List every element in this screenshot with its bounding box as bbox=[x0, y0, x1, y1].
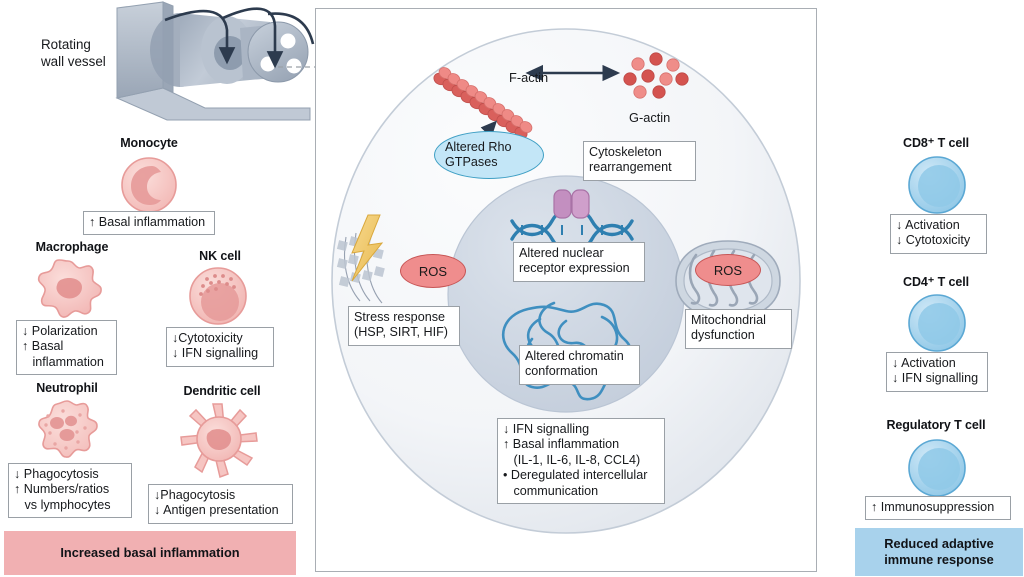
cd8-t-cell-effects-box: ↓ Activation ↓ Cytotoxicity bbox=[890, 214, 987, 254]
regulatory-t-cell-title: Regulatory T cell bbox=[876, 418, 996, 432]
altered-nuclear-receptor-expression-box: Altered nuclear receptor expression bbox=[513, 242, 645, 282]
figure-root: Rotating wall vessel Monocyte ↑ Basal in… bbox=[0, 0, 1024, 577]
nk-cell-icon bbox=[187, 265, 249, 327]
ros-cytoplasm-tag: ROS bbox=[400, 254, 466, 288]
macrophage-effects-box: ↓ Polarization ↑ Basal inflammation bbox=[16, 320, 117, 375]
macrophage-icon bbox=[33, 258, 103, 320]
dendritic-cell-icon bbox=[178, 400, 262, 478]
nk-cell-title: NK cell bbox=[160, 249, 280, 263]
cd8-t-cell-icon bbox=[906, 154, 968, 216]
cd4-t-cell-icon bbox=[906, 292, 968, 354]
g-actin-label: G-actin bbox=[629, 110, 670, 125]
stress-response-box: Stress response (HSP, SIRT, HIF) bbox=[348, 306, 460, 346]
cd4-t-cell-title: CD4⁺ T cell bbox=[876, 274, 996, 289]
dendritic-cell-effects-box: ↓Phagocytosis ↓ Antigen presentation bbox=[148, 484, 293, 524]
neutrophil-icon bbox=[33, 399, 101, 461]
neutrophil-title: Neutrophil bbox=[12, 381, 122, 395]
regulatory-t-cell-icon bbox=[906, 437, 968, 499]
rotating-wall-vessel-label: Rotating wall vessel bbox=[41, 36, 106, 70]
altered-rho-gtpases-tag: Altered Rho GTPases bbox=[434, 131, 544, 179]
cell-schematic-panel: F-actin G-actin Altered Rho GTPases ROS … bbox=[315, 8, 817, 572]
f-actin-label: F-actin bbox=[509, 70, 548, 85]
macrophage-title: Macrophage bbox=[12, 240, 132, 254]
mitochondrial-dysfunction-box: Mitochondrial dysfunction bbox=[685, 309, 792, 349]
regulatory-t-cell-effects-box: ↑ Immunosuppression bbox=[865, 496, 1011, 520]
secretome-changes-box: ↓ IFN signalling ↑ Basal inflammation (I… bbox=[497, 418, 665, 504]
reduced-adaptive-immune-response-banner: Reduced adaptive immune response bbox=[855, 528, 1023, 576]
altered-chromatin-conformation-box: Altered chromatin conformation bbox=[519, 345, 640, 385]
increased-basal-inflammation-banner: Increased basal inflammation bbox=[4, 531, 296, 575]
neutrophil-effects-box: ↓ Phagocytosis ↑ Numbers/ratios vs lymph… bbox=[8, 463, 132, 518]
nk-cell-effects-box: ↓Cytotoxicity ↓ IFN signalling bbox=[166, 327, 274, 367]
dendritic-cell-title: Dendritic cell bbox=[162, 384, 282, 398]
cd8-t-cell-title: CD8⁺ T cell bbox=[876, 135, 996, 150]
monocyte-icon bbox=[119, 155, 179, 215]
cytoskeleton-rearrangement-box: Cytoskeleton rearrangement bbox=[583, 141, 696, 181]
ros-mitochondria-tag: ROS bbox=[695, 254, 761, 286]
cd4-t-cell-effects-box: ↓ Activation ↓ IFN signalling bbox=[886, 352, 988, 392]
monocyte-title: Monocyte bbox=[89, 136, 209, 150]
monocyte-effects-box: ↑ Basal inflammation bbox=[83, 211, 215, 235]
